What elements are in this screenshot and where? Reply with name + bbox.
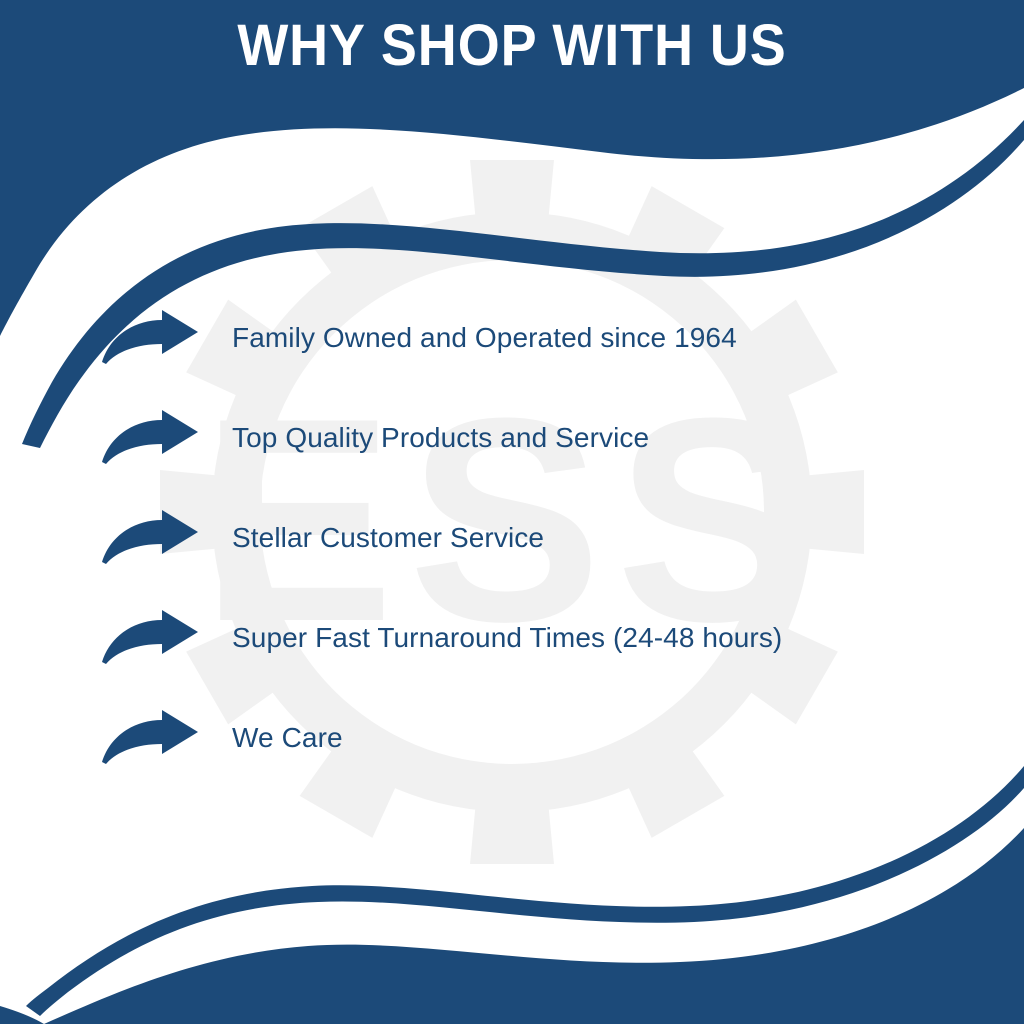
list-item-label: Family Owned and Operated since 1964 — [232, 321, 1000, 355]
list-item-label: We Care — [232, 721, 1000, 755]
list-item: We Care — [100, 688, 1000, 788]
list-item: Stellar Customer Service — [100, 488, 1000, 588]
curved-arrow-icon — [100, 410, 200, 466]
list-item: Family Owned and Operated since 1964 — [100, 288, 1000, 388]
benefits-list: Family Owned and Operated since 1964 Top… — [100, 288, 1000, 788]
list-item: Top Quality Products and Service — [100, 388, 1000, 488]
list-item-label: Stellar Customer Service — [232, 521, 1000, 555]
curved-arrow-icon — [100, 310, 200, 366]
curved-arrow-icon — [100, 510, 200, 566]
bottom-fill-shape — [0, 1006, 44, 1024]
bottom-swoosh-shape — [26, 766, 1024, 1016]
bottom-wave-shape — [44, 828, 1024, 1024]
promo-graphic: ESS WHY SHOP WITH US Family Owned and Op… — [0, 0, 1024, 1024]
list-item-label: Top Quality Products and Service — [232, 421, 1000, 455]
curved-arrow-icon — [100, 710, 200, 766]
list-item-label: Super Fast Turnaround Times (24-48 hours… — [232, 621, 1000, 655]
page-title: WHY SHOP WITH US — [36, 12, 988, 80]
list-item: Super Fast Turnaround Times (24-48 hours… — [100, 588, 1000, 688]
curved-arrow-icon — [100, 610, 200, 666]
